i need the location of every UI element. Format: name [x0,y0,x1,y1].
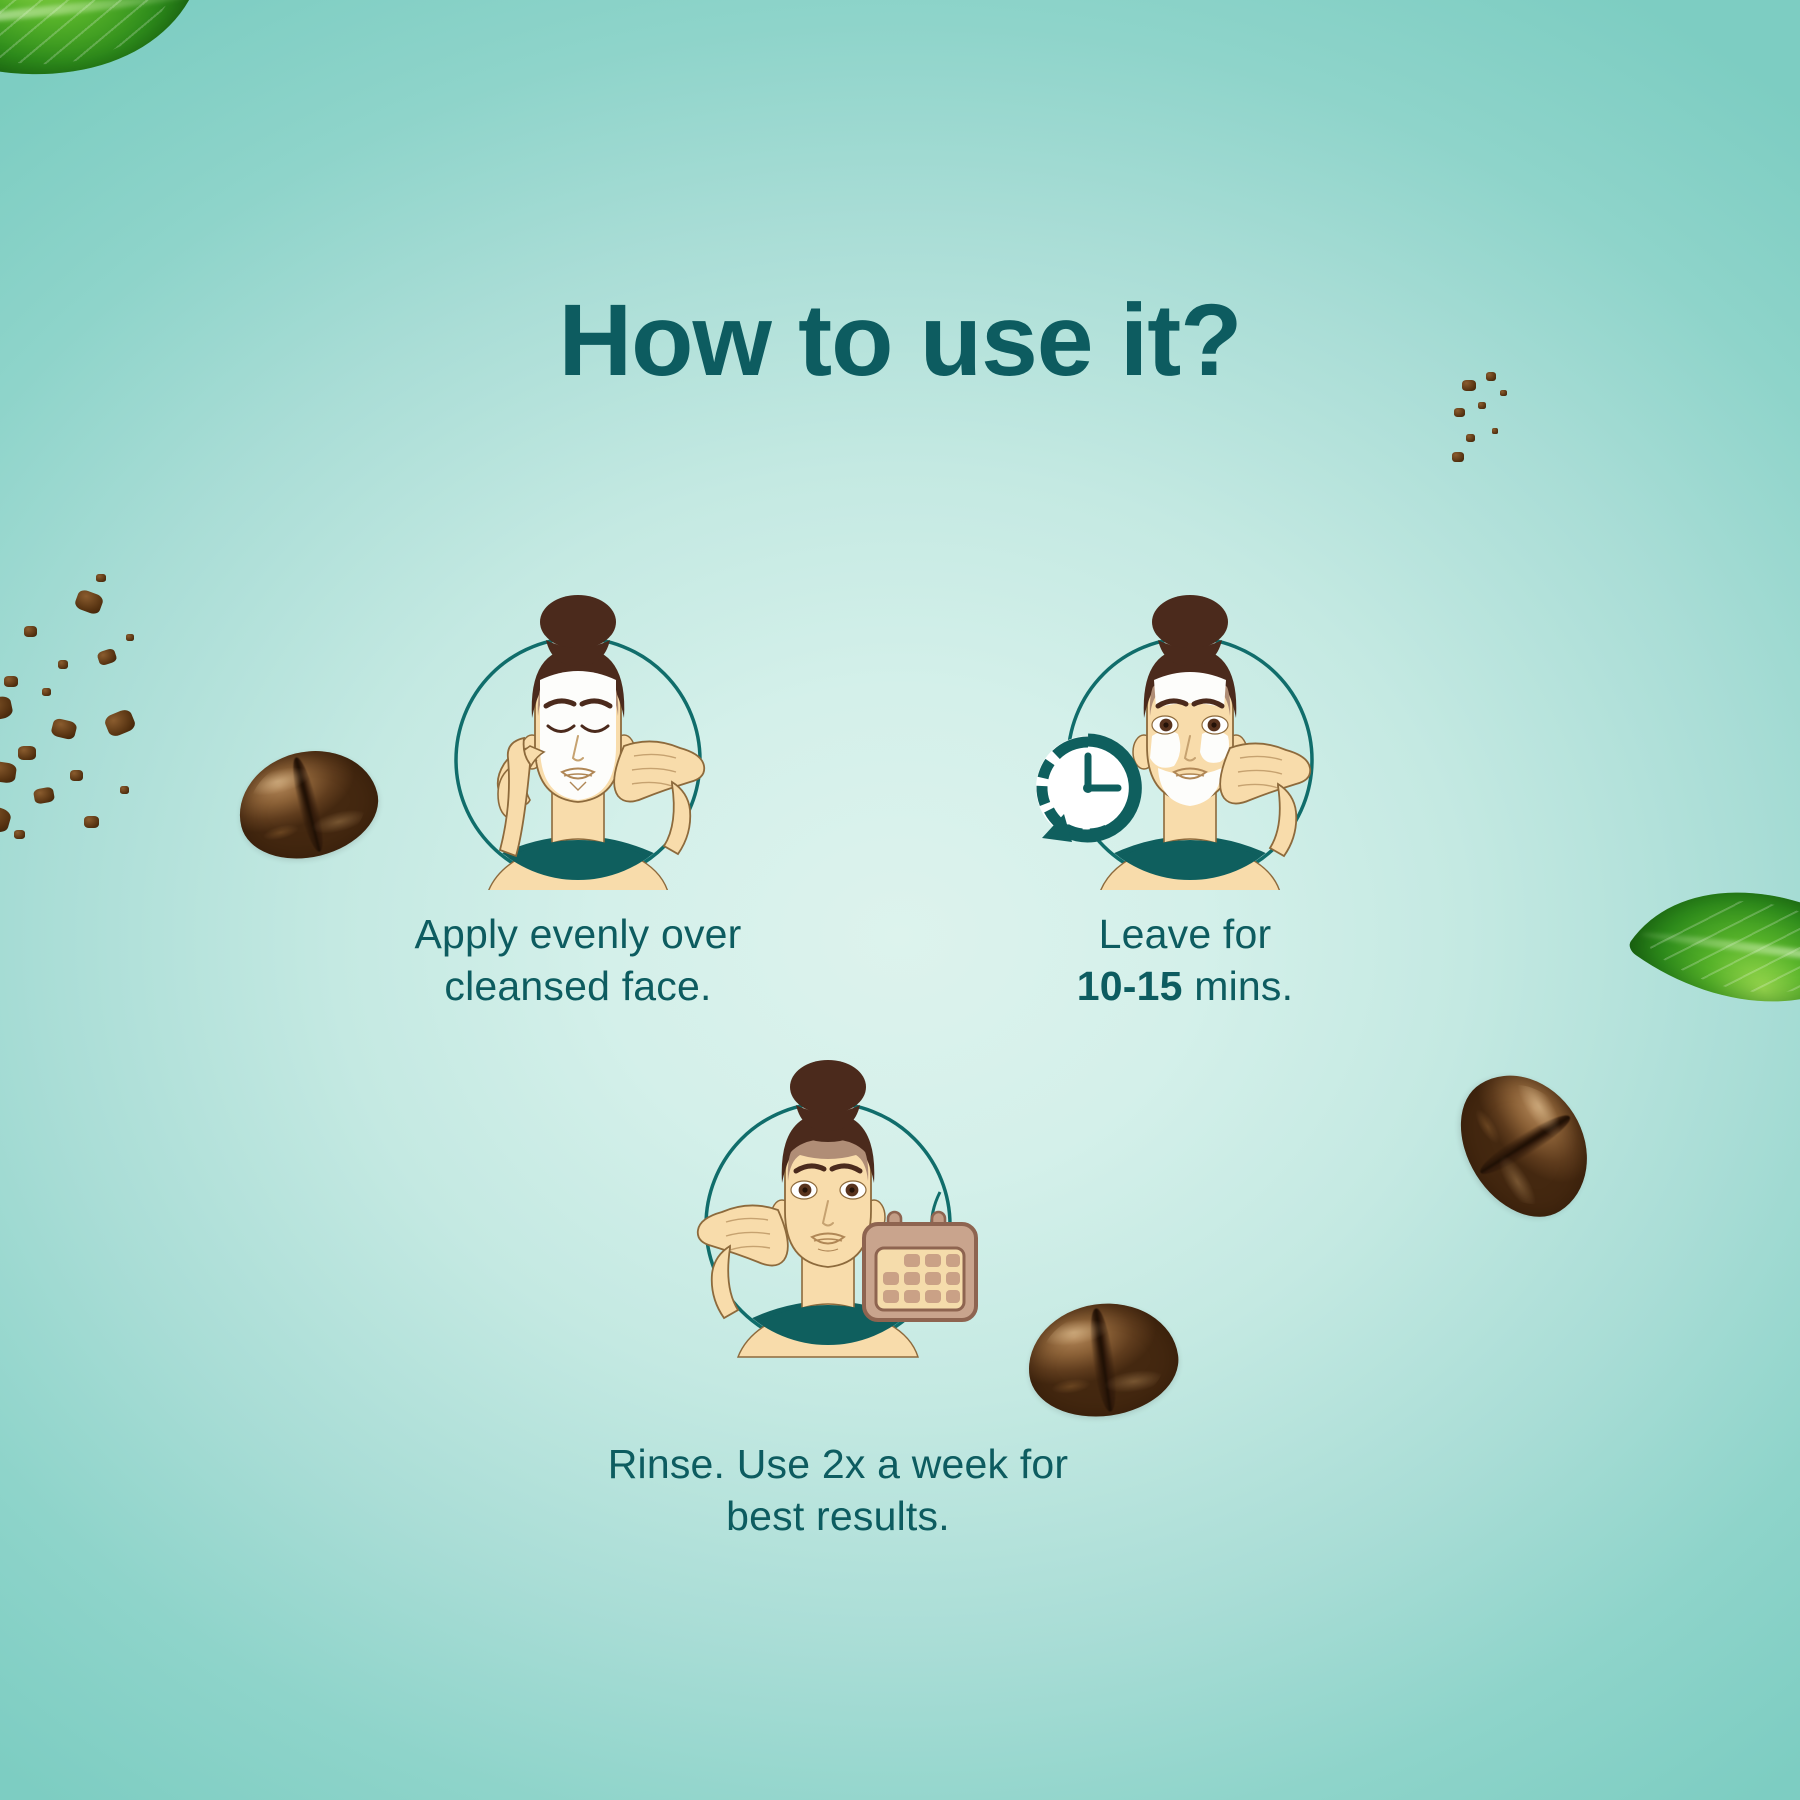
page-title: How to use it? [0,282,1800,399]
woman-with-mask-and-clock-illustration [1030,560,1340,890]
step-rinse-caption: Rinse. Use 2x a week for best results. [558,1438,1118,1542]
coffee-leaf-icon [0,0,200,136]
step-apply: Apply evenly over cleansed face. [298,560,858,1012]
step-wait-duration: 10-15 [1077,963,1183,1009]
step-rinse: Rinse. Use 2x a week for best results. [558,1020,1118,1542]
step-wait-caption-line2: 10-15 mins. [905,960,1465,1012]
coffee-bean-icon [1436,1050,1613,1238]
step-apply-caption: Apply evenly over cleansed face. [298,908,858,1012]
coffee-leaf-icon [1626,825,1800,1068]
step-wait: Leave for 10-15 mins. [905,560,1465,1012]
step-wait-unit: mins. [1183,963,1294,1009]
step-rinse-caption-line2: best results. [558,1490,1118,1542]
how-to-use-poster: How to use it? [0,0,1800,1800]
woman-rinsed-face-with-calendar-illustration [678,1020,998,1360]
step-wait-caption-line1: Leave for [905,908,1465,960]
clock-icon [1036,736,1140,842]
step-rinse-illustration [558,1020,1118,1420]
step-wait-illustration [905,560,1465,890]
coffee-grounds-splash [0,530,180,860]
step-apply-caption-line2: cleansed face. [298,960,858,1012]
step-rinse-caption-line1: Rinse. Use 2x a week for [558,1438,1118,1490]
step-wait-caption: Leave for 10-15 mins. [905,908,1465,1012]
woman-applying-mask-illustration [428,560,728,890]
step-apply-caption-line1: Apply evenly over [298,908,858,960]
step-apply-illustration [298,560,858,890]
